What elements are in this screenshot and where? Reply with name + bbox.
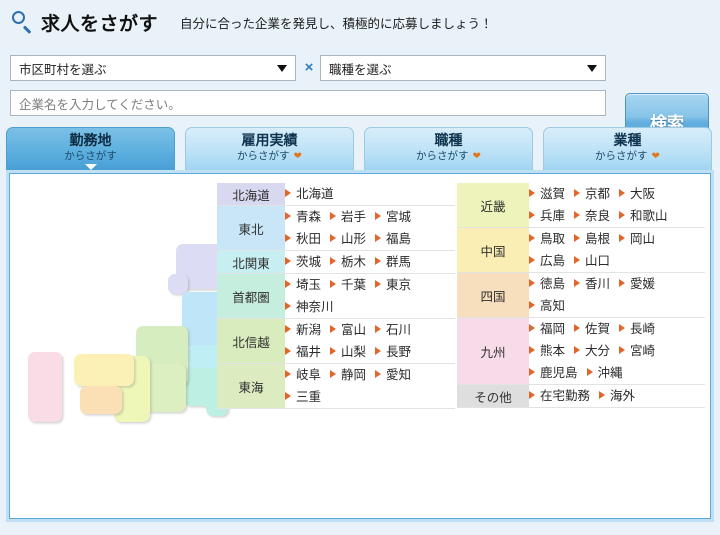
prefecture-label: 福井 (296, 345, 321, 359)
triangle-right-icon (330, 212, 336, 220)
tab-job-type-sublabel: からさがす (416, 150, 469, 162)
prefecture-label: 高知 (540, 299, 565, 313)
tab-industry[interactable]: 業種 からさがす❤ (543, 127, 712, 171)
prefecture-label: 徳島 (540, 277, 565, 291)
map-block-hokkaido-tail[interactable] (168, 274, 188, 294)
region-label: 九州 (457, 318, 529, 385)
prefecture-link[interactable]: 長崎 (619, 320, 655, 338)
prefecture-link[interactable]: 静岡 (330, 366, 366, 384)
tab-job-type[interactable]: 職種 からさがす❤ (364, 127, 533, 171)
region-label: その他 (457, 385, 529, 408)
prefecture-label: 広島 (540, 254, 565, 268)
triangle-right-icon (619, 189, 625, 197)
chevron-down-icon (587, 65, 597, 72)
triangle-right-icon (574, 211, 580, 219)
prefecture-link[interactable]: 和歌山 (619, 207, 668, 225)
region-label: 東海 (217, 364, 285, 409)
prefecture-link[interactable]: 宮城 (375, 208, 411, 226)
prefecture-label: 福島 (386, 232, 411, 246)
map-block-chugoku[interactable] (74, 354, 134, 386)
prefecture-label: 青森 (296, 210, 321, 224)
prefecture-link[interactable]: 奈良 (574, 207, 610, 225)
prefecture-link[interactable]: 広島 (529, 252, 565, 270)
prefecture-label: 鳥取 (540, 232, 565, 246)
prefecture-label: 岐阜 (296, 368, 321, 382)
prefecture-list: 徳島香川愛媛高知 (529, 273, 705, 318)
triangle-right-icon (599, 391, 605, 399)
prefecture-label: 静岡 (341, 368, 366, 382)
triangle-right-icon (285, 347, 291, 355)
prefecture-label: 大分 (585, 344, 610, 358)
tab-employment-record-sublabel: からさがす (237, 150, 290, 162)
region-row: 四国徳島香川愛媛高知 (457, 273, 705, 318)
triangle-right-icon (285, 302, 291, 310)
prefecture-link[interactable]: 山梨 (330, 343, 366, 361)
triangle-right-icon (375, 325, 381, 333)
prefecture-label: 沖縄 (598, 366, 623, 380)
prefecture-label: 埼玉 (296, 278, 321, 292)
prefecture-link[interactable]: 岩手 (330, 208, 366, 226)
region-row: 東北青森岩手宮城秋田山形福島 (217, 206, 455, 251)
region-label: 北信越 (217, 319, 285, 364)
prefecture-link[interactable]: 石川 (375, 321, 411, 339)
prefecture-list: 北海道 (285, 183, 455, 206)
map-block-shikoku[interactable] (80, 386, 122, 414)
prefecture-link[interactable]: 福島 (375, 230, 411, 248)
page-header: 求人をさがす 自分に合った企業を発見し、積極的に応募しましょう！ (0, 0, 720, 44)
triangle-right-icon (529, 189, 535, 197)
triangle-right-icon (375, 257, 381, 265)
prefecture-label: 北海道 (296, 187, 334, 201)
prefecture-link[interactable]: 新潟 (285, 321, 321, 339)
region-row: その他在宅勤務海外 (457, 385, 705, 408)
prefecture-link[interactable]: 東京 (375, 276, 411, 294)
triangle-right-icon (330, 257, 336, 265)
prefecture-label: 東京 (386, 278, 411, 292)
region-row: 中国鳥取島根岡山広島山口 (457, 228, 705, 273)
prefecture-link[interactable]: 茨城 (285, 253, 321, 271)
region-label: 東北 (217, 206, 285, 251)
region-row: 首都圏埼玉千葉東京神奈川 (217, 274, 455, 319)
prefecture-link[interactable]: 秋田 (285, 230, 321, 248)
triangle-right-icon (330, 234, 336, 242)
prefecture-link[interactable]: 大阪 (619, 185, 655, 203)
prefecture-label: 新潟 (296, 323, 321, 337)
triangle-right-icon (285, 189, 291, 197)
chevron-down-icon: ❤ (473, 151, 481, 162)
prefecture-label: 熊本 (540, 344, 565, 358)
prefecture-list: 岐阜静岡愛知三重 (285, 364, 455, 409)
prefecture-link[interactable]: 愛媛 (619, 275, 655, 293)
triangle-right-icon (285, 392, 291, 400)
prefecture-label: 千葉 (341, 278, 366, 292)
page-subtitle: 自分に合った企業を発見し、積極的に応募しましょう！ (180, 13, 493, 32)
prefecture-link[interactable]: 富山 (330, 321, 366, 339)
prefecture-link[interactable]: 三重 (285, 388, 321, 406)
triangle-right-icon (529, 256, 535, 264)
triangle-right-icon (574, 346, 580, 354)
triangle-right-icon (587, 368, 593, 376)
triangle-right-icon (574, 189, 580, 197)
triangle-right-icon (529, 324, 535, 332)
prefecture-link[interactable]: 高知 (529, 297, 565, 315)
triangle-right-icon (330, 280, 336, 288)
page-title: 求人をさがす (41, 9, 158, 36)
prefecture-label: 佐賀 (585, 322, 610, 336)
prefecture-link[interactable]: 長野 (375, 343, 411, 361)
prefecture-label: 滋賀 (540, 187, 565, 201)
prefecture-label: 愛知 (386, 368, 411, 382)
search-controls: 市区町村を選ぶ × 職種を選ぶ 企業名を入力してください。 検索 (0, 44, 720, 122)
region-panel: 北海道北海道東北青森岩手宮城秋田山形福島北関東茨城栃木群馬首都圏埼玉千葉東京神奈… (6, 170, 714, 522)
triangle-right-icon (529, 346, 535, 354)
tab-job-type-label: 職種 (365, 132, 532, 149)
prefecture-label: 福岡 (540, 322, 565, 336)
tab-employment-record[interactable]: 雇用実績 からさがす❤ (185, 127, 354, 171)
prefecture-label: 群馬 (386, 255, 411, 269)
triangle-right-icon (285, 370, 291, 378)
triangle-right-icon (330, 370, 336, 378)
prefecture-link[interactable]: 京都 (574, 185, 610, 203)
city-select-value: 市区町村を選ぶ (19, 59, 277, 78)
chevron-down-icon (277, 65, 287, 72)
prefecture-link[interactable]: 岐阜 (285, 366, 321, 384)
prefecture-list: 在宅勤務海外 (529, 385, 705, 408)
triangle-right-icon (529, 211, 535, 219)
prefecture-list: 滋賀京都大阪兵庫奈良和歌山 (529, 183, 705, 228)
prefecture-link[interactable]: 島根 (574, 230, 610, 248)
prefecture-label: 栃木 (341, 255, 366, 269)
prefecture-link[interactable]: 大分 (574, 342, 610, 360)
prefecture-link[interactable]: 宮崎 (619, 342, 655, 360)
triangle-right-icon (285, 325, 291, 333)
job-type-select-value: 職種を選ぶ (329, 59, 587, 78)
tab-industry-label: 業種 (544, 132, 711, 149)
prefecture-list: 埼玉千葉東京神奈川 (285, 274, 455, 319)
city-select[interactable]: 市区町村を選ぶ (10, 55, 296, 81)
tab-employment-record-label: 雇用実績 (186, 132, 353, 149)
region-row: 北信越新潟富山石川福井山梨長野 (217, 319, 455, 364)
prefecture-link[interactable]: 福岡 (529, 320, 565, 338)
prefecture-label: 三重 (296, 390, 321, 404)
prefecture-link[interactable]: 青森 (285, 208, 321, 226)
prefecture-label: 長崎 (630, 322, 655, 336)
triangle-right-icon (375, 212, 381, 220)
prefecture-label: 岡山 (630, 232, 655, 246)
region-label: 中国 (457, 228, 529, 273)
prefecture-link[interactable]: 鳥取 (529, 230, 565, 248)
prefecture-label: 岩手 (341, 210, 366, 224)
region-row: 東海岐阜静岡愛知三重 (217, 364, 455, 409)
triangle-right-icon (285, 234, 291, 242)
prefecture-link[interactable]: 埼玉 (285, 276, 321, 294)
prefecture-label: 秋田 (296, 232, 321, 246)
prefecture-link[interactable]: 千葉 (330, 276, 366, 294)
prefecture-link[interactable]: 愛知 (375, 366, 411, 384)
triangle-right-icon (529, 279, 535, 287)
triangle-right-icon (529, 234, 535, 242)
prefecture-link[interactable]: 群馬 (375, 253, 411, 271)
triangle-right-icon (285, 212, 291, 220)
region-row: 九州福岡佐賀長崎熊本大分宮崎鹿児島沖縄 (457, 318, 705, 385)
triangle-right-icon (619, 324, 625, 332)
prefecture-label: 海外 (610, 389, 635, 403)
triangle-right-icon (619, 279, 625, 287)
search-icon (10, 10, 34, 34)
tab-work-location-label: 勤務地 (7, 132, 174, 149)
prefecture-list: 福岡佐賀長崎熊本大分宮崎鹿児島沖縄 (529, 318, 705, 385)
triangle-right-icon (330, 325, 336, 333)
tab-work-location[interactable]: 勤務地 からさがす (6, 127, 175, 171)
triangle-right-icon (619, 211, 625, 219)
prefecture-list: 鳥取島根岡山広島山口 (529, 228, 705, 273)
prefecture-link[interactable]: 熊本 (529, 342, 565, 360)
tab-work-location-sublabel: からさがす (64, 150, 117, 162)
prefecture-list: 新潟富山石川福井山梨長野 (285, 319, 455, 364)
prefecture-label: 茨城 (296, 255, 321, 269)
prefecture-link[interactable]: 福井 (285, 343, 321, 361)
prefecture-label: 宮崎 (630, 344, 655, 358)
map-block-kyushu[interactable] (28, 352, 62, 422)
prefecture-label: 愛媛 (630, 277, 655, 291)
prefecture-link[interactable]: 鹿児島 (529, 364, 578, 382)
prefecture-link[interactable]: 佐賀 (574, 320, 610, 338)
triangle-right-icon (619, 234, 625, 242)
region-table-right: 近畿滋賀京都大阪兵庫奈良和歌山中国鳥取島根岡山広島山口四国徳島香川愛媛高知九州福… (457, 183, 705, 408)
prefecture-link[interactable]: 栃木 (330, 253, 366, 271)
prefecture-label: 石川 (386, 323, 411, 337)
prefecture-label: 京都 (585, 187, 610, 201)
prefecture-label: 在宅勤務 (540, 389, 590, 403)
region-label: 北関東 (217, 251, 285, 274)
triangle-right-icon (330, 347, 336, 355)
region-label: 四国 (457, 273, 529, 318)
prefecture-list: 茨城栃木群馬 (285, 251, 455, 274)
prefecture-label: 長野 (386, 345, 411, 359)
prefecture-link[interactable]: 滋賀 (529, 185, 565, 203)
prefecture-label: 山口 (585, 254, 610, 268)
triangle-right-icon (375, 347, 381, 355)
prefecture-label: 和歌山 (630, 209, 668, 223)
prefecture-link[interactable]: 岡山 (619, 230, 655, 248)
prefecture-list: 青森岩手宮城秋田山形福島 (285, 206, 455, 251)
prefecture-link[interactable]: 海外 (599, 387, 635, 405)
separator-x: × (302, 59, 316, 77)
chevron-down-icon: ❤ (294, 151, 302, 162)
region-row: 北関東茨城栃木群馬 (217, 251, 455, 274)
prefecture-link[interactable]: 神奈川 (285, 298, 334, 316)
triangle-right-icon (574, 256, 580, 264)
company-name-placeholder: 企業名を入力してください。 (19, 94, 181, 113)
prefecture-label: 香川 (585, 277, 610, 291)
triangle-right-icon (574, 234, 580, 242)
prefecture-link[interactable]: 兵庫 (529, 207, 565, 225)
triangle-right-icon (529, 301, 535, 309)
triangle-right-icon (285, 280, 291, 288)
prefecture-label: 神奈川 (296, 300, 334, 314)
prefecture-link[interactable]: 沖縄 (587, 364, 623, 382)
job-type-select[interactable]: 職種を選ぶ (320, 55, 606, 81)
prefecture-label: 山形 (341, 232, 366, 246)
triangle-right-icon (375, 234, 381, 242)
region-table-left: 北海道北海道東北青森岩手宮城秋田山形福島北関東茨城栃木群馬首都圏埼玉千葉東京神奈… (217, 183, 455, 409)
prefecture-label: 大阪 (630, 187, 655, 201)
triangle-right-icon (375, 370, 381, 378)
triangle-right-icon (574, 324, 580, 332)
prefecture-link[interactable]: 香川 (574, 275, 610, 293)
prefecture-link[interactable]: 徳島 (529, 275, 565, 293)
prefecture-label: 山梨 (341, 345, 366, 359)
triangle-right-icon (529, 391, 535, 399)
prefecture-label: 兵庫 (540, 209, 565, 223)
prefecture-label: 鹿児島 (540, 366, 578, 380)
region-label: 北海道 (217, 183, 285, 206)
prefecture-label: 島根 (585, 232, 610, 246)
triangle-right-icon (375, 280, 381, 288)
prefecture-label: 富山 (341, 323, 366, 337)
triangle-right-icon (529, 368, 535, 376)
company-name-input[interactable]: 企業名を入力してください。 (10, 90, 606, 116)
prefecture-link[interactable]: 山口 (574, 252, 610, 270)
triangle-right-icon (285, 257, 291, 265)
search-tabs: 勤務地 からさがす 雇用実績 からさがす❤ 職種 からさがす❤ 業種 からさがす… (6, 127, 714, 172)
triangle-right-icon (574, 279, 580, 287)
tab-industry-sublabel: からさがす (595, 150, 648, 162)
prefecture-link[interactable]: 在宅勤務 (529, 387, 590, 405)
japan-map (16, 182, 214, 512)
region-row: 近畿滋賀京都大阪兵庫奈良和歌山 (457, 183, 705, 228)
region-label: 近畿 (457, 183, 529, 228)
region-label: 首都圏 (217, 274, 285, 319)
region-row: 北海道北海道 (217, 183, 455, 206)
chevron-down-icon: ❤ (652, 151, 660, 162)
prefecture-label: 宮城 (386, 210, 411, 224)
prefecture-link[interactable]: 北海道 (285, 185, 334, 203)
prefecture-link[interactable]: 山形 (330, 230, 366, 248)
triangle-right-icon (619, 346, 625, 354)
prefecture-label: 奈良 (585, 209, 610, 223)
